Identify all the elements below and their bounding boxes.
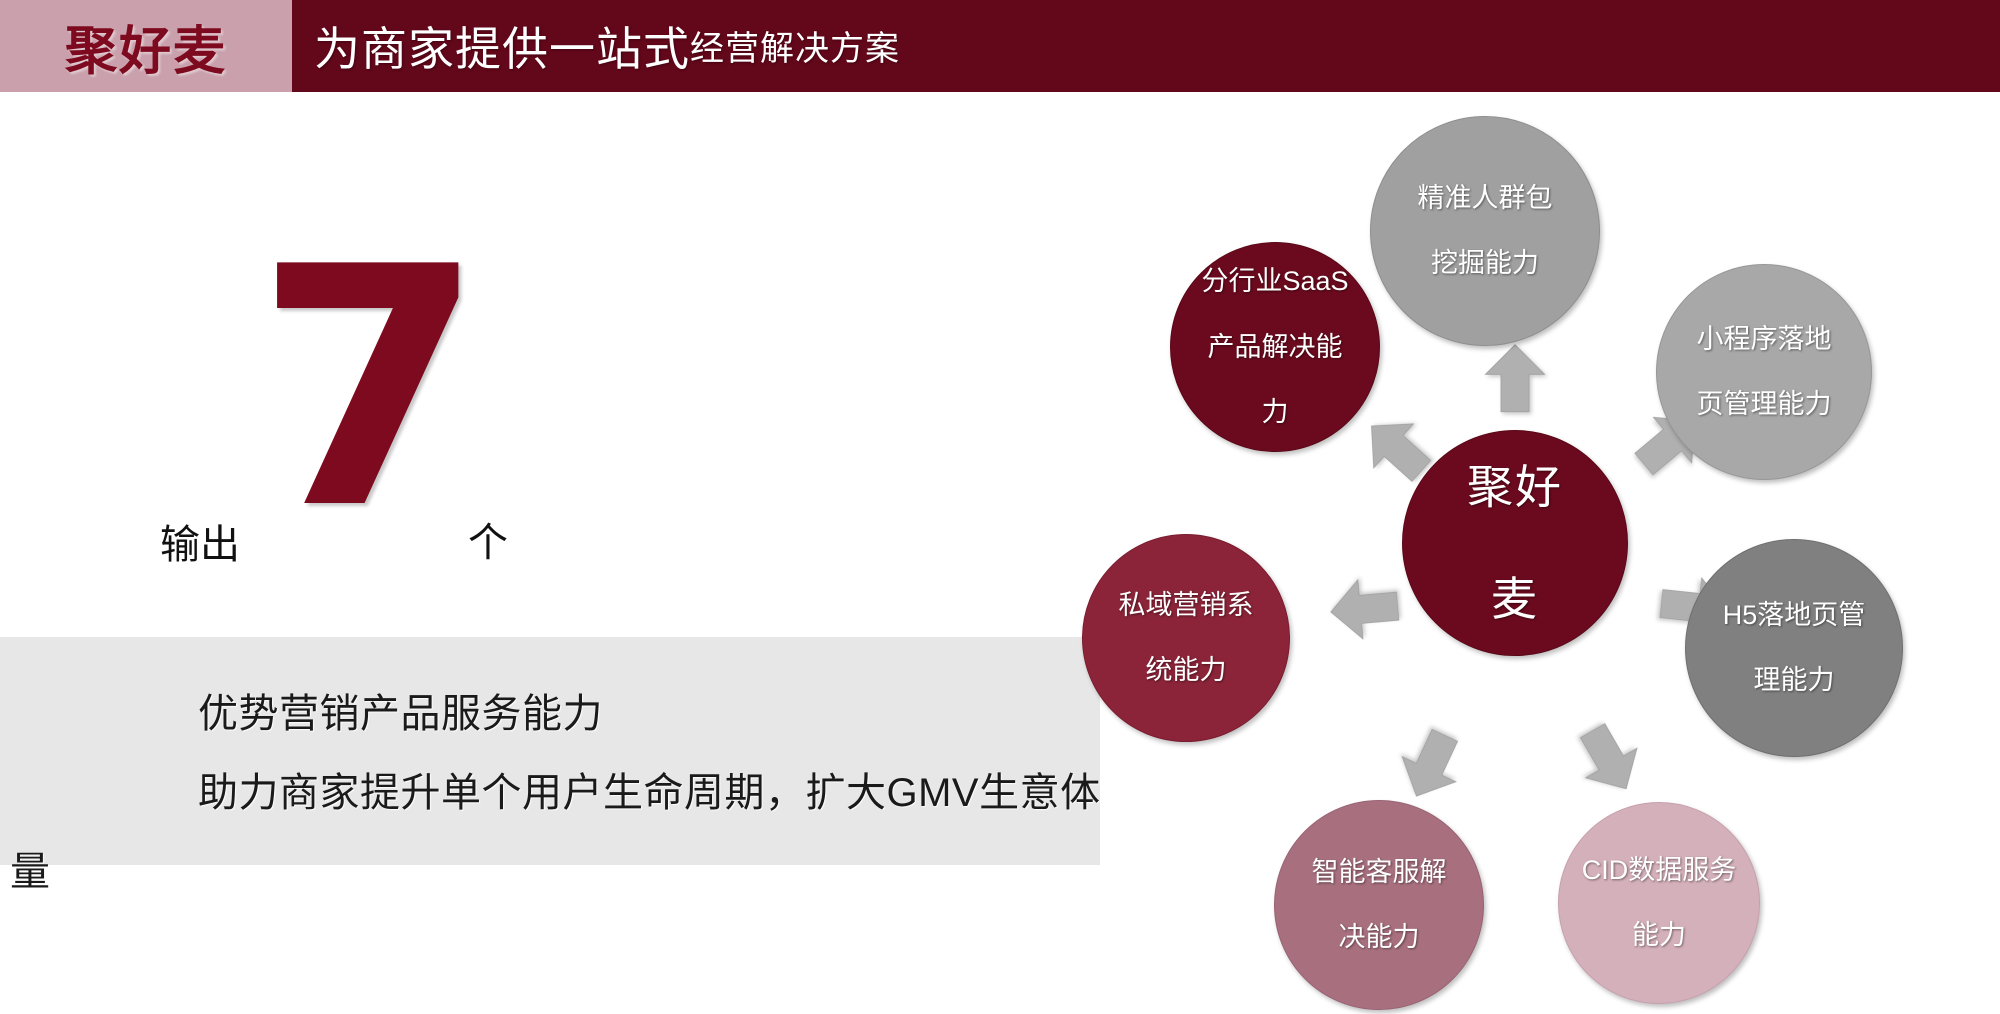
capability-hub-diagram: 聚好麦 精准人群包挖掘能力 小程序落地页管理能力 H5落地页管理能力 CID数据… (1030, 92, 2000, 1014)
node-label-line-1: 私域营销系 (1109, 589, 1264, 622)
arrow-to-left (1323, 567, 1408, 652)
capability-node-label: 私域营销系统能力 (1099, 589, 1274, 688)
hub-node-label: 聚好麦 (1447, 459, 1583, 627)
arrow-to-bottom-right (1556, 706, 1663, 813)
app-header: 聚好麦 为商家提供一站式 经营解决方案 (0, 0, 2000, 92)
node-label-line-3: 力 (1191, 396, 1358, 429)
node-label-line-1: 智能客服解 (1302, 856, 1457, 889)
callout-box: 优势营销产品服务能力 助力商家提升单个用户生命周期，扩大GMV生意体 量 (0, 637, 1100, 865)
capability-node-label: H5落地页管理能力 (1703, 599, 1886, 698)
left-panel: 输出 7 个 优势营销产品服务能力 助力商家提升单个用户生命周期，扩大GMV生意… (0, 92, 1110, 1014)
capability-node-label: 小程序落地页管理能力 (1677, 323, 1852, 422)
brand-logo-text: 聚好麦 (65, 9, 227, 84)
capability-node-bottom-left[interactable]: 智能客服解决能力 (1274, 800, 1484, 1010)
node-label-line-2: 理能力 (1713, 664, 1876, 697)
hub-label-line-2: 麦 (1457, 571, 1573, 627)
capability-node-top-left[interactable]: 分行业SaaS产品解决能力 (1170, 242, 1380, 452)
node-label-line-1: H5落地页管 (1713, 599, 1876, 632)
capability-node-right[interactable]: H5落地页管理能力 (1685, 539, 1903, 757)
capability-node-label: CID数据服务能力 (1562, 854, 1757, 953)
stat-block: 输出 7 个 (0, 282, 640, 612)
arrow-glyph (1323, 567, 1408, 652)
node-label-line-2: 决能力 (1302, 921, 1457, 954)
capability-node-top-right[interactable]: 小程序落地页管理能力 (1656, 264, 1872, 480)
node-label-line-1: 分行业SaaS (1191, 265, 1358, 298)
capability-node-label: 分行业SaaS产品解决能力 (1181, 265, 1368, 430)
header-title-sub: 经营解决方案 (690, 21, 900, 72)
capability-node-label: 精准人群包挖掘能力 (1398, 182, 1573, 281)
capability-node-bottom-right[interactable]: CID数据服务能力 (1558, 802, 1760, 1004)
node-label-line-2: 产品解决能 (1191, 331, 1358, 364)
arrow-glyph (1556, 706, 1663, 813)
stat-prefix-label: 输出 (160, 512, 240, 570)
node-label-line-2: 统能力 (1109, 654, 1264, 687)
arrow-to-top (1476, 340, 1554, 418)
capability-node-left[interactable]: 私域营销系统能力 (1082, 534, 1290, 742)
capability-node-label: 智能客服解决能力 (1292, 856, 1467, 955)
hub-node[interactable]: 聚好麦 (1402, 430, 1628, 656)
callout-line-1: 优势营销产品服务能力 (198, 681, 603, 739)
header-title: 为商家提供一站式 经营解决方案 (292, 0, 900, 92)
node-label-line-1: 精准人群包 (1408, 182, 1563, 215)
callout-line-3: 量 (10, 839, 51, 897)
node-label-line-2: 挖掘能力 (1408, 247, 1563, 280)
stat-unit-label: 个 (468, 510, 508, 568)
header-title-main: 为商家提供一站式 (314, 13, 690, 79)
callout-line-2: 助力商家提升单个用户生命周期，扩大GMV生意体 (198, 760, 1101, 818)
hub-label-line-1: 聚好 (1457, 459, 1573, 515)
node-label-line-1: 小程序落地 (1687, 323, 1842, 356)
stat-number: 7 (255, 224, 485, 554)
capability-node-top[interactable]: 精准人群包挖掘能力 (1370, 116, 1600, 346)
arrow-glyph (1476, 340, 1554, 418)
brand-logo-box: 聚好麦 (0, 0, 292, 92)
node-label-line-2: 能力 (1572, 919, 1747, 952)
node-label-line-1: CID数据服务 (1572, 854, 1747, 887)
node-label-line-2: 页管理能力 (1687, 388, 1842, 421)
